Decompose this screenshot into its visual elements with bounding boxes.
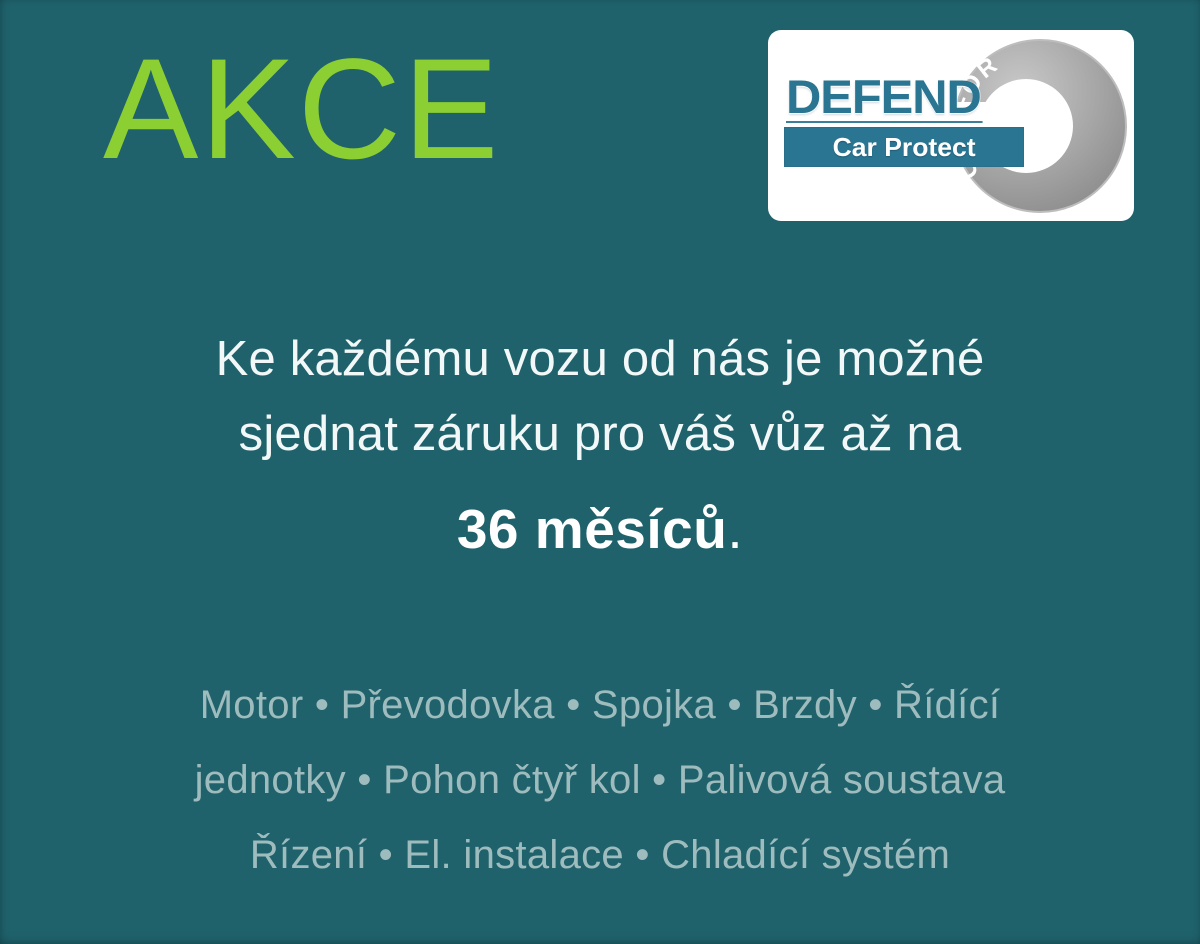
covered-parts-line-3: Řízení • El. instalace • Chladící systém — [0, 818, 1200, 893]
warranty-duration-value: 36 měsíců — [457, 498, 728, 560]
offer-message-line-1: Ke každému vozu od nás je možné — [0, 322, 1200, 397]
warranty-duration-period: . — [727, 498, 743, 560]
covered-parts-list: Motor • Převodovka • Spojka • Brzdy • Ří… — [0, 668, 1200, 893]
warranty-duration: 36 měsíců. — [0, 490, 1200, 568]
covered-parts-line-2: jednotky • Pohon čtyř kol • Palivová sou… — [0, 743, 1200, 818]
offer-message: Ke každému vozu od nás je možné sjednat … — [0, 322, 1200, 472]
offer-message-line-2: sjednat záruku pro váš vůz až na — [0, 397, 1200, 472]
car-protect-bar: Car Protect — [784, 127, 1024, 167]
page-title: AKCE — [103, 38, 500, 181]
defend-car-protect-logo: COMFORT DEFEND Car Protect — [768, 30, 1134, 221]
covered-parts-line-1: Motor • Převodovka • Spojka • Brzdy • Ří… — [0, 668, 1200, 743]
defend-wordmark: DEFEND — [786, 73, 981, 120]
logo-inner: COMFORT DEFEND Car Protect — [768, 30, 1134, 221]
promo-slide: AKCE — [0, 0, 1200, 944]
car-protect-label: Car Protect — [833, 132, 976, 163]
comfort-badge-icon: COMFORT — [950, 36, 1130, 216]
